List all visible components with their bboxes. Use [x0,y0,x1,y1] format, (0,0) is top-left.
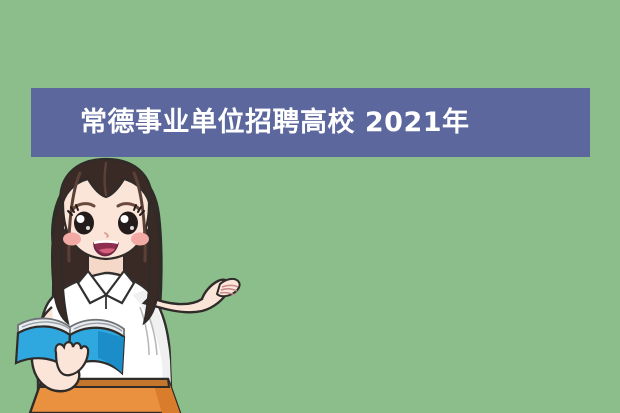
eye-right [118,212,138,235]
cartoon-woman-icon [12,157,272,413]
banner-canvas: 常德事业单位招聘高校 2021年 [0,0,620,413]
eye-right-highlight [121,215,129,223]
eye-right-glint [130,226,134,230]
eye-left-glint [86,226,90,230]
cheek-left [63,233,81,246]
eye-left-highlight [77,215,85,223]
title-banner: 常德事业单位招聘高校 2021年 [31,88,590,157]
cheek-right [131,233,149,246]
page-title: 常德事业单位招聘高校 2021年 [80,109,470,136]
illustration-cartoon-woman [12,157,272,413]
eye-left [74,212,94,235]
